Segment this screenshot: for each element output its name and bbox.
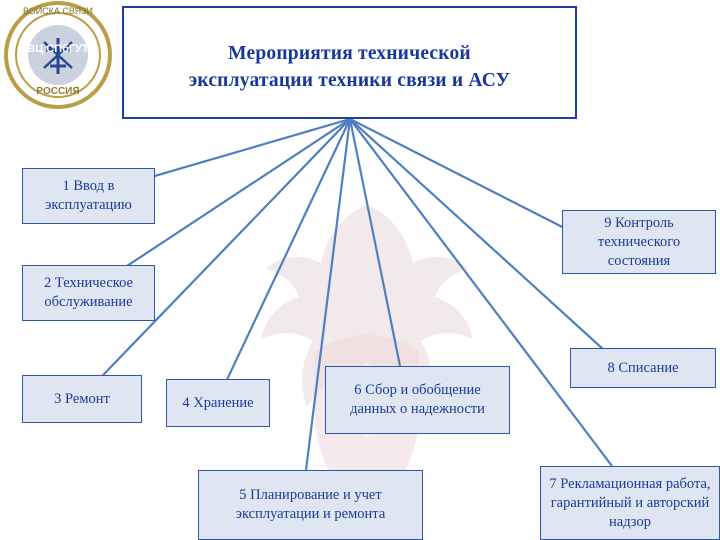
- node-vvod-v-ekspluataciyu[interactable]: 1 Ввод в эксплуатацию: [22, 168, 155, 224]
- node-remont[interactable]: 3 Ремонт: [22, 375, 142, 423]
- node-spisanie[interactable]: 8 Списание: [570, 348, 716, 388]
- node-reklamacionnaya-rabota[interactable]: 7 Рекламационная работа, гарантийный и а…: [540, 466, 720, 540]
- node-label: 6 Сбор и обобщение данных о надежности: [330, 381, 505, 419]
- node-label: 1 Ввод в эксплуатацию: [27, 177, 150, 215]
- node-label: 3 Ремонт: [27, 390, 137, 409]
- svg-text:ВОЙСКА СВЯЗИ: ВОЙСКА СВЯЗИ: [23, 5, 93, 16]
- node-label: 4 Хранение: [171, 394, 265, 413]
- title-line-2: эксплуатации техники связи и АСУ: [189, 70, 511, 91]
- node-label: 5 Планирование и учет эксплуатации и рем…: [203, 486, 418, 524]
- node-label: 7 Рекламационная работа, гарантийный и а…: [545, 475, 715, 532]
- node-sbor-i-obobshchenie-dannyh[interactable]: 6 Сбор и обобщение данных о надежности: [325, 366, 510, 434]
- node-label: 8 Списание: [575, 359, 711, 378]
- svg-text:РОССИЯ: РОССИЯ: [36, 86, 79, 97]
- svg-text:ВЦ СПбГУТ: ВЦ СПбГУТ: [27, 43, 89, 55]
- title-line-1: Мероприятия технической: [228, 43, 471, 64]
- node-label: 9 Контроль технического состояния: [567, 214, 711, 271]
- diagram-canvas: ВОЙСКА СВЯЗИ ВЦ СПбГУТ РОССИЯ Мероприяти…: [0, 0, 720, 540]
- node-label: 2 Техническое обслуживание: [27, 274, 150, 312]
- vcc-spbgut-emblem-icon: ВОЙСКА СВЯЗИ ВЦ СПбГУТ РОССИЯ: [0, 0, 120, 118]
- node-hranenie[interactable]: 4 Хранение: [166, 379, 270, 427]
- node-kontrol-tehnicheskogo-sostoyaniya[interactable]: 9 Контроль технического состояния: [562, 210, 716, 274]
- page-title: Мероприятия технической эксплуатации тех…: [122, 40, 577, 94]
- node-tehnicheskoe-obsluzhivanie[interactable]: 2 Техническое обслуживание: [22, 265, 155, 321]
- node-planirovanie-i-uchet[interactable]: 5 Планирование и учет эксплуатации и рем…: [198, 470, 423, 540]
